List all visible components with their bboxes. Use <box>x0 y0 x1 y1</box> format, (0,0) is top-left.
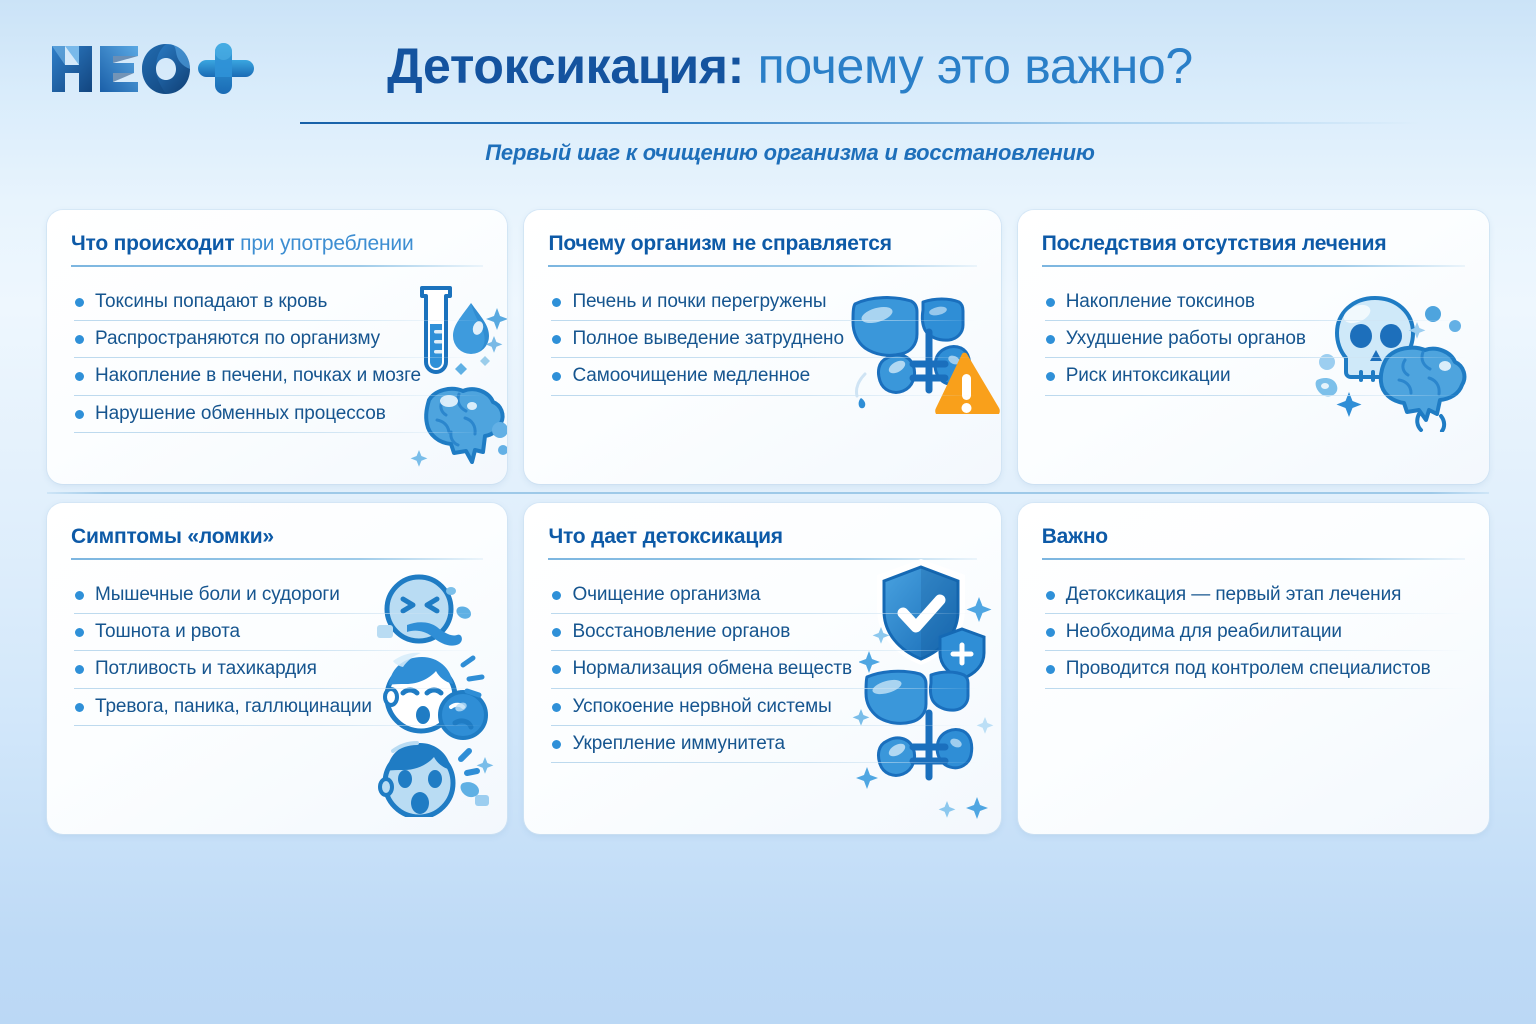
card-title-bold: Почему организм не справляется <box>548 232 891 255</box>
list-item[interactable]: Ухудшение работы органов <box>1042 321 1465 358</box>
card-title: Что дает детоксикация <box>548 525 976 549</box>
title-light: почему это важно? <box>758 38 1193 94</box>
list-item[interactable]: Восстановление органов <box>548 614 976 651</box>
bullet-text: Нарушение обменных процессов <box>95 402 386 425</box>
bullet-text: Нормализация обмена веществ <box>572 657 852 680</box>
card-title: Важно <box>1042 525 1465 549</box>
page-header: Детоксикация: почему это важно? Первый ш… <box>0 0 1536 190</box>
card-title-bold: Что дает детоксикация <box>548 525 782 548</box>
item-divider <box>551 762 976 763</box>
card-bullet-list: Накопление токсинов Ухудшение работы орг… <box>1042 284 1465 396</box>
bullet-dot-icon <box>75 665 84 674</box>
bullet-text: Проводится под контролем специалистов <box>1066 657 1431 680</box>
list-item[interactable]: Нормализация обмена веществ <box>548 651 976 688</box>
bullet-text: Мышечные боли и судороги <box>95 583 340 606</box>
card-bullet-list: Детоксикация — первый этап лечения Необх… <box>1042 577 1465 689</box>
card-title: Симптомы «ломки» <box>71 525 483 549</box>
bullet-text: Успокоение нервной системы <box>572 695 831 718</box>
card-title-divider <box>1042 265 1465 267</box>
card-important[interactable]: Важно Детоксикация — первый этап лечения… <box>1018 503 1489 834</box>
bullet-dot-icon <box>75 591 84 600</box>
card-title-divider <box>71 558 483 560</box>
bullet-dot-icon <box>75 410 84 419</box>
bullet-text: Накопление в печени, почках и мозге <box>95 364 421 387</box>
item-divider <box>74 432 483 433</box>
list-item[interactable]: Очищение организма <box>548 577 976 614</box>
bullet-text: Печень и почки перегружены <box>572 290 826 313</box>
bullet-dot-icon <box>75 298 84 307</box>
list-item[interactable]: Риск интоксикации <box>1042 358 1465 395</box>
card-title-bold: Важно <box>1042 525 1108 548</box>
brand-logo <box>48 38 258 100</box>
card-title: Почему организм не справляется <box>548 232 976 256</box>
bullet-text: Накопление токсинов <box>1066 290 1255 313</box>
card-consequences[interactable]: Последствия отсутствия лечения <box>1018 210 1489 484</box>
list-item[interactable]: Тревога, паника, галлюцинации <box>71 689 483 726</box>
card-bullet-list: Токсины попадают в кровь Распространяютс… <box>71 284 483 433</box>
list-item[interactable]: Проводится под контролем специалистов <box>1042 651 1465 688</box>
list-item[interactable]: Распространяются по организму <box>71 321 483 358</box>
title-bold: Детоксикация: <box>387 38 744 94</box>
card-title-divider <box>548 558 976 560</box>
cards-row-2: Симптомы «ломки» <box>47 503 1489 834</box>
bullet-dot-icon <box>1046 665 1055 674</box>
bullet-dot-icon <box>1046 335 1055 344</box>
item-divider <box>1045 688 1465 689</box>
title-divider <box>300 122 1420 124</box>
list-item[interactable]: Необходима для реабилитации <box>1042 614 1465 651</box>
list-item[interactable]: Тошнота и рвота <box>71 614 483 651</box>
card-title-light: при употреблении <box>240 232 413 255</box>
card-bullet-list: Печень и почки перегружены Полное выведе… <box>548 284 976 396</box>
bullet-dot-icon <box>75 372 84 381</box>
card-bullet-list: Очищение организма Восстановление органо… <box>548 577 976 763</box>
card-title-bold: Симптомы «ломки» <box>71 525 274 548</box>
list-item[interactable]: Успокоение нервной системы <box>548 689 976 726</box>
card-why-body-fails[interactable]: Почему организм не справляется <box>524 210 1000 484</box>
bullet-text: Распространяются по организму <box>95 327 380 350</box>
bullet-dot-icon <box>1046 591 1055 600</box>
bullet-text: Токсины попадают в кровь <box>95 290 327 313</box>
cards-grid: Что происходит при употреблении <box>47 210 1489 834</box>
card-title: Последствия отсутствия лечения <box>1042 232 1465 256</box>
bullet-text: Потливость и тахикардия <box>95 657 317 680</box>
bullet-text: Тошнота и рвота <box>95 620 240 643</box>
list-item[interactable]: Печень и почки перегружены <box>548 284 976 321</box>
bullet-dot-icon <box>552 665 561 674</box>
page-subtitle: Первый шаг к очищению организма и восста… <box>290 140 1290 166</box>
list-item[interactable]: Накопление токсинов <box>1042 284 1465 321</box>
bullet-text: Самоочищение медленное <box>572 364 810 387</box>
list-item[interactable]: Потливость и тахикардия <box>71 651 483 688</box>
bullet-text: Восстановление органов <box>572 620 790 643</box>
card-withdrawal-symptoms[interactable]: Симптомы «ломки» <box>47 503 507 834</box>
card-title-bold: Что происходит <box>71 232 235 255</box>
bullet-dot-icon <box>552 591 561 600</box>
page-title: Детоксикация: почему это важно? <box>290 40 1290 93</box>
bullet-text: Ухудшение работы органов <box>1066 327 1306 350</box>
bullet-dot-icon <box>75 703 84 712</box>
item-divider <box>1045 395 1465 396</box>
bullet-text: Риск интоксикации <box>1066 364 1231 387</box>
card-bullet-list: Мышечные боли и судороги Тошнота и рвота… <box>71 577 483 726</box>
bullet-dot-icon <box>552 703 561 712</box>
bullet-dot-icon <box>75 628 84 637</box>
card-title-bold: Последствия отсутствия лечения <box>1042 232 1387 255</box>
bullet-text: Полное выведение затруднено <box>572 327 843 350</box>
bullet-dot-icon <box>1046 628 1055 637</box>
bullet-text: Очищение организма <box>572 583 760 606</box>
list-item[interactable]: Мышечные боли и судороги <box>71 577 483 614</box>
bullet-dot-icon <box>75 335 84 344</box>
card-title: Что происходит при употреблении <box>71 232 483 256</box>
bullet-text: Детоксикация — первый этап лечения <box>1066 583 1402 606</box>
bullet-dot-icon <box>552 372 561 381</box>
list-item[interactable]: Детоксикация — первый этап лечения <box>1042 577 1465 614</box>
row-divider <box>47 492 1489 494</box>
bullet-dot-icon <box>552 335 561 344</box>
list-item[interactable]: Укрепление иммунитета <box>548 726 976 763</box>
bullet-text: Необходима для реабилитации <box>1066 620 1342 643</box>
item-divider <box>74 725 483 726</box>
bullet-dot-icon <box>552 740 561 749</box>
item-divider <box>551 395 976 396</box>
bullet-dot-icon <box>1046 298 1055 307</box>
card-what-happens[interactable]: Что происходит при употреблении <box>47 210 507 484</box>
bullet-dot-icon <box>552 628 561 637</box>
card-title-divider <box>548 265 976 267</box>
bullet-text: Тревога, паника, галлюцинации <box>95 695 372 718</box>
card-title-divider <box>71 265 483 267</box>
bullet-dot-icon <box>1046 372 1055 381</box>
list-item[interactable]: Нарушение обменных процессов <box>71 396 483 433</box>
list-item[interactable]: Накопление в печени, почках и мозге <box>71 358 483 395</box>
bullet-dot-icon <box>552 298 561 307</box>
shocked-face-icon <box>380 743 493 817</box>
cards-row-1: Что происходит при употреблении <box>47 210 1489 484</box>
list-item[interactable]: Самоочищение медленное <box>548 358 976 395</box>
card-detox-benefits[interactable]: Что дает детоксикация <box>524 503 1000 834</box>
bullet-text: Укрепление иммунитета <box>572 732 785 755</box>
list-item[interactable]: Полное выведение затруднено <box>548 321 976 358</box>
card-title-divider <box>1042 558 1465 560</box>
list-item[interactable]: Токсины попадают в кровь <box>71 284 483 321</box>
